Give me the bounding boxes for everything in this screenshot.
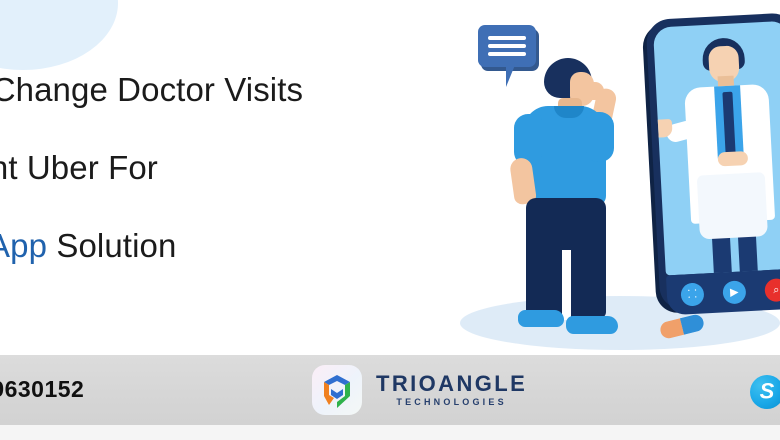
smartphone-device: ⸬ ▶ ⌕ [646, 12, 780, 309]
trioangle-triangle-logo-icon [312, 365, 362, 415]
promo-banner: o Change Doctor Visits ight Uber For s A… [0, 0, 780, 440]
patient-right-sleeve [586, 112, 614, 162]
brand-text-block: TRIOANGLE TECHNOLOGIES [376, 373, 527, 407]
footer-strip [0, 425, 780, 440]
headline-line-3-rest: Solution [47, 227, 176, 264]
patient-left-shoe [518, 310, 564, 327]
headline-line-1: o Change Doctor Visits [0, 66, 434, 114]
headline-block: o Change Doctor Visits ight Uber For s A… [0, 66, 434, 270]
patient-figure [508, 58, 638, 338]
end-call-button[interactable]: ⌕ [764, 278, 780, 302]
end-call-icon: ⌕ [773, 284, 780, 295]
call-control-bar: ⸬ ▶ ⌕ [666, 268, 780, 315]
skype-icon[interactable]: S [750, 375, 780, 409]
brand-subtitle: TECHNOLOGIES [376, 398, 527, 407]
doctor-coat-lower [697, 172, 768, 239]
mic-button[interactable]: ⸬ [680, 282, 704, 306]
phone-screen [653, 21, 780, 276]
video-button[interactable]: ▶ [722, 280, 746, 304]
headline-line-2: ight Uber For [0, 144, 434, 192]
bottom-contact-bar: 79630152 TRIOANGLE TECHNOLOGIES S [0, 355, 780, 425]
mic-icon: ⸬ [688, 289, 698, 300]
headline-line-3: s App Solution [0, 222, 434, 270]
patient-hand [584, 82, 604, 100]
doctor-right-hand [718, 151, 749, 167]
brand-name: TRIOANGLE [376, 373, 527, 395]
brand-lockup: TRIOANGLE TECHNOLOGIES [312, 365, 527, 415]
decorative-blob-top-left [0, 0, 118, 70]
headline-accent-text: s App [0, 227, 47, 264]
telemedicine-illustration: ⸬ ▶ ⌕ [430, 0, 780, 355]
phone-number-text: 79630152 [0, 376, 84, 403]
skype-letter: S [760, 381, 775, 403]
patient-leg-gap [562, 250, 571, 320]
video-icon: ▶ [730, 287, 739, 298]
patient-right-shoe [566, 316, 618, 334]
